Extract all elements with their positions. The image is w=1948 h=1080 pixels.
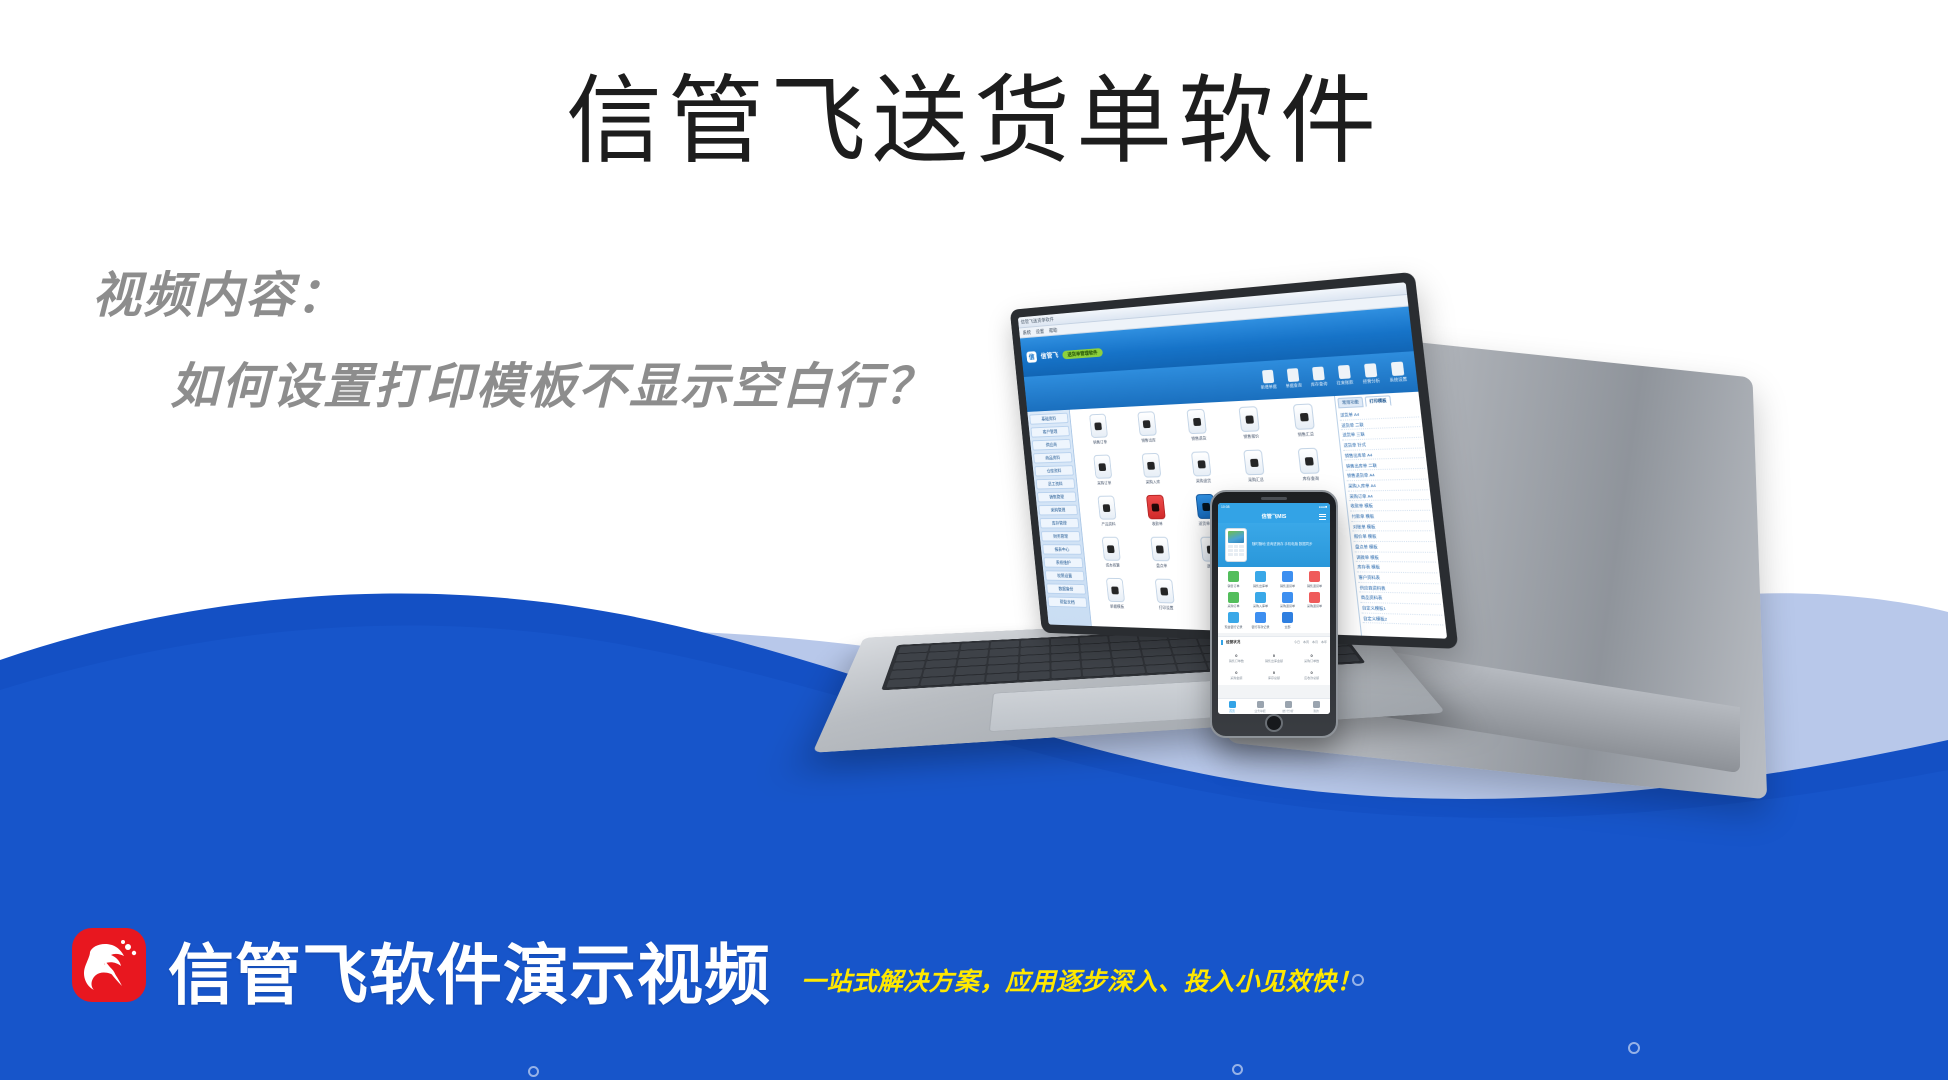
phone-function-label: 采购退货单 [1280,604,1295,608]
phone-function-grid: 销售订单销售出库单销售退货单销售退货单采购订单采购入库单采购退货单采购退货单现金… [1218,567,1330,633]
module-label: 销售报价 [1243,433,1259,440]
module-tile[interactable]: 采购订单 [1079,454,1129,493]
module-label: 产品资料 [1101,521,1116,527]
toolbar-button[interactable]: 系统设置 [1388,361,1408,383]
phone-function-icon [1282,612,1293,623]
phone-function-label: 采购退货单 [1307,604,1322,608]
template-row[interactable]: 自定义模板2 [1362,615,1444,626]
template-row[interactable]: 送货单 针式 [1342,439,1422,450]
module-tile[interactable]: 库存查询 [1281,447,1339,490]
keyboard-key [1083,667,1114,676]
video-content-label: 视频内容： [92,272,935,321]
toolbar-button-label: 单据查询 [1285,382,1302,389]
module-label: 库存查询 [1302,476,1319,483]
sidebar-item[interactable]: 库存管理 [1040,518,1080,529]
phone-section-title: 经营状况 [1221,640,1240,645]
template-row[interactable]: 销售出库单 A4 [1343,450,1424,461]
phone-section-header: 经营状况 今日本周本月本年 [1218,636,1330,648]
phone-nav-item[interactable]: 业务单据 [1246,701,1274,713]
template-panel-tabs: 常用功能打印模板 [1337,394,1417,408]
phone-nav-label: 首页 [1229,709,1235,713]
keyboard-key [1082,659,1112,668]
phone-function-icon [1309,571,1320,582]
keyboard-key [1051,669,1081,678]
sidebar-item[interactable]: 销售管理 [1037,492,1077,503]
phone-function-label: 全部 [1284,625,1290,629]
phone-function-tile[interactable]: 销售退货单 [1302,571,1327,588]
phone-stat-value: 0 [1235,670,1237,675]
phone-stat-label: 采购金额 [1230,676,1242,680]
user-icon [1313,701,1320,708]
brand-name: 信管飞软件演示视频 [168,942,771,1008]
app-brand-name: 信管飞 [1040,350,1058,361]
module-label: 采购订单 [1097,480,1112,486]
sidebar-item[interactable]: 财务管理 [1041,531,1081,541]
app-logo-icon: 信 [1026,351,1037,363]
phone-function-tile[interactable]: 采购退货单 [1275,592,1300,609]
keyboard-key [1114,666,1145,675]
template-row[interactable]: 付款单 模板 [1350,512,1431,521]
phone-stat-label: 销售订单数 [1229,659,1244,663]
analysis-icon [1364,363,1377,377]
phone-stats-grid: 0销售订单数0销售出库金额0采购订单数0采购金额0库存总额0应收款总额 [1218,648,1330,685]
module-tile[interactable]: 盘点单 [1135,537,1187,576]
phone-function-tile[interactable]: 采购入库单 [1248,592,1273,609]
module-label: 采购汇总 [1248,477,1264,483]
toolbar-button[interactable]: 新增单据 [1259,370,1277,391]
module-label: 销售订单 [1093,439,1107,445]
phone-stat-value: 0 [1311,670,1313,675]
phone-stat-label: 采购订单数 [1304,659,1319,663]
module-icon [1187,409,1207,434]
keyboard-key [886,678,920,688]
phone-function-tile[interactable]: 采购订单 [1221,592,1246,609]
toolbar-button[interactable]: 经营分析 [1361,363,1380,385]
module-icon [1146,495,1166,520]
module-label: 销售汇总 [1297,431,1314,438]
phone-nav-label: 统计分析 [1282,709,1293,713]
phone-screen: 10:08 ●●●■ 信管飞MIS 随时随地 查询进销存 手机电脑 数据同步 销… [1218,503,1330,714]
toolbar-button-label: 新增单据 [1261,384,1277,391]
account-icon [1337,365,1350,379]
module-icon [1298,448,1320,474]
module-icon [1089,414,1108,438]
phone-stat-value: 0 [1311,653,1313,658]
hamburger-icon[interactable] [1319,514,1326,520]
module-tile[interactable]: 销售退货 [1171,408,1225,449]
decor-dot-3 [528,1066,539,1077]
phone-section-tabs[interactable]: 今日本周本月本年 [1294,640,1327,644]
phone-nav-item[interactable]: 首页 [1218,701,1246,713]
template-row[interactable]: 采购订单 A4 [1348,491,1429,501]
phone-function-tile[interactable]: 销售退货单 [1275,571,1300,588]
keyboard-key [1051,661,1081,670]
stock-icon [1312,367,1325,381]
phone-nav-item[interactable]: 我的 [1302,701,1330,713]
module-icon [1239,406,1260,432]
toolbar-button[interactable]: 库存查询 [1309,366,1328,388]
phone-function-icon [1228,571,1239,582]
home-icon [1229,701,1236,708]
phone-period-tab[interactable]: 今日 [1294,640,1300,644]
keyboard-key [890,669,923,678]
template-row[interactable]: 销售退货单 A4 [1346,471,1427,481]
sidebar-item[interactable]: 系统维护 [1044,557,1084,568]
keyboard-key [955,666,986,675]
keyboard-key [986,673,1017,682]
phone-stat-cell: 0采购金额 [1218,667,1255,683]
module-tile[interactable]: 销售订单 [1075,413,1125,453]
keyboard-key [1019,663,1049,672]
video-content-text: 如何设置打印模板不显示空白行？ [170,363,935,412]
module-icon [1154,579,1174,604]
toolbar-button-label: 系统设置 [1389,376,1407,383]
template-row[interactable]: 客户资料表 [1357,574,1438,584]
template-row[interactable]: 自定义模板1 [1361,605,1443,616]
phone-status-time: 10:08 [1221,505,1230,509]
brand-tagline: 一站式解决方案，应用逐步深入、投入小见效快！ [801,962,1362,998]
module-icon [1150,537,1170,561]
module-label: 成本核算 [1106,563,1121,569]
toolbar-button[interactable]: 单据查询 [1284,368,1302,389]
keyboard-key [953,674,985,684]
keyboard-key [1176,662,1208,671]
phone-banner-illustration [1225,528,1247,562]
phone-stat-cell: 0销售出库金额 [1256,650,1293,666]
phone-function-tile[interactable]: 全部 [1275,612,1300,629]
module-icon [1102,537,1121,561]
template-panel-tab[interactable]: 打印模板 [1365,395,1392,407]
phone-period-tab[interactable]: 本月 [1312,640,1318,644]
phone-function-tile[interactable]: 销售订单 [1221,571,1246,588]
phone-period-tab[interactable]: 本周 [1303,640,1309,644]
module-tile[interactable]: 采购入库 [1126,452,1178,492]
phone-function-icon [1282,571,1293,582]
phone-device: 10:08 ●●●■ 信管飞MIS 随时随地 查询进销存 手机电脑 数据同步 销… [1210,490,1338,738]
phone-stat-label: 应收款总额 [1304,676,1319,680]
phone-function-label: 采购入库单 [1253,604,1268,608]
phone-function-label: 现金银行记录 [1224,625,1242,629]
module-icon [1243,449,1264,475]
phone-nav-label: 业务单据 [1254,709,1265,713]
module-label: 单据模板 [1110,604,1125,610]
doc-icon [1257,701,1264,708]
sidebar-item[interactable]: 客户管理 [1031,426,1070,438]
module-tile[interactable]: 采购汇总 [1227,449,1283,491]
module-tile[interactable]: 成本核算 [1087,537,1137,576]
menu-item[interactable]: 帮助 [1049,327,1058,334]
module-icon [1137,411,1157,436]
video-content-block: 视频内容： 如何设置打印模板不显示空白行？ [92,272,935,412]
template-row[interactable]: 调拨单 模板 [1355,554,1436,563]
slide-canvas: 信管飞送货单软件 视频内容： 如何设置打印模板不显示空白行？ 信管飞送货单软件 … [0,0,1948,1080]
phone-function-tile[interactable]: 银行存款记录 [1248,612,1273,629]
phone-function-icon [1255,592,1266,603]
module-tile[interactable]: 销售出库 [1122,410,1174,451]
template-row[interactable]: 报价单 模板 [1353,533,1434,542]
phone-function-label: 销售订单 [1227,584,1239,588]
sidebar-item[interactable]: 权限设置 [1045,570,1085,581]
phone-stat-value: 0 [1273,670,1275,675]
phone-status-icons: ●●●■ [1319,505,1327,509]
module-icon [1097,496,1116,520]
phone-home-button[interactable] [1265,714,1283,732]
module-tile[interactable]: 销售报价 [1223,405,1279,447]
template-row[interactable]: 供应商资料表 [1358,584,1439,594]
phone-nav-item[interactable]: 统计分析 [1274,701,1302,713]
sidebar-item[interactable]: 供应商 [1032,439,1071,451]
module-icon [1141,453,1161,478]
phone-status-bar: 10:08 ●●●■ [1218,503,1330,510]
phone-function-icon [1255,612,1266,623]
device-mockup-group: 信管飞送货单软件 系统设置帮助 信 信管飞 送货单管理软件 新增单据单据查询库存… [880,370,1948,930]
phone-speaker [1261,497,1287,500]
template-row[interactable]: 商品资料表 [1359,594,1441,605]
template-row[interactable]: 收款单 模板 [1349,502,1430,512]
window-title: 信管飞送货单软件 [1020,316,1054,325]
decor-dot-4 [1232,1064,1243,1075]
sidebar-item[interactable]: 数据备份 [1046,583,1086,594]
phone-nav-label: 我的 [1313,709,1319,713]
module-label: 采购退货 [1196,478,1212,484]
module-label: 盘点单 [1156,563,1168,569]
phone-function-label: 销售退货单 [1307,584,1322,588]
new-doc-icon [1261,370,1273,384]
phone-function-icon [1282,592,1293,603]
phone-function-label: 销售退货单 [1280,584,1295,588]
phone-function-icon [1228,592,1239,603]
phone-function-label: 采购订单 [1227,604,1239,608]
sidebar-item[interactable]: 采购管理 [1038,505,1078,516]
phone-function-icon [1255,571,1266,582]
phone-banner: 随时随地 查询进销存 手机电脑 数据同步 [1218,523,1330,567]
phone-function-icon [1309,592,1320,603]
keyboard-key [1145,664,1176,673]
module-label: 销售退货 [1191,435,1207,441]
template-row[interactable]: 库存表 模板 [1356,564,1437,574]
sidebar-item[interactable]: 报表中心 [1042,544,1082,555]
sidebar-item[interactable]: 帮助文档 [1047,596,1087,607]
brand-bar: 信管飞软件演示视频 一站式解决方案，应用逐步深入、投入小见效快！ [72,928,1362,1008]
phone-banner-text: 随时随地 查询进销存 手机电脑 数据同步 [1252,542,1312,547]
template-row[interactable]: 对账单 模板 [1351,523,1432,532]
module-tile[interactable]: 打印设置 [1139,578,1191,618]
phone-stat-cell: 0销售订单数 [1218,650,1255,666]
phone-function-icon [1228,612,1239,623]
module-icon [1191,451,1211,476]
module-label: 采购入库 [1145,479,1160,485]
sidebar-item[interactable]: 商品资料 [1033,452,1072,463]
phone-stat-value: 0 [1273,653,1275,658]
laptop-front: 信管飞送货单软件 系统设置帮助 信 信管飞 送货单管理软件 新增单据单据查询库存… [880,310,1520,910]
phone-stat-cell: 0采购订单数 [1293,650,1330,666]
module-label: 收款单 [1152,521,1164,527]
module-label: 销售出库 [1141,437,1156,443]
decor-dot-2 [1628,1042,1640,1054]
phone-stat-label: 销售出库金额 [1265,659,1283,663]
keyboard-key [987,664,1017,673]
toolbar-button-label: 经营分析 [1363,378,1381,385]
bird-logo-icon [72,928,146,1002]
search-doc-icon [1286,368,1299,382]
keyboard-key [1174,654,1205,663]
phone-period-tab[interactable]: 本年 [1321,640,1327,644]
module-icon [1293,403,1315,429]
page-title: 信管飞送货单软件 [0,72,1948,173]
chart-icon [1285,701,1292,708]
app-module-badge: 送货单管理软件 [1062,348,1103,359]
module-tile[interactable]: 单据模板 [1091,578,1141,618]
phone-function-label: 银行存款记录 [1251,625,1269,629]
module-icon [1093,455,1112,479]
phone-function-tile[interactable]: 销售出库单 [1248,571,1273,588]
keyboard-key [1113,658,1143,667]
sidebar-item[interactable]: 基础资料 [1029,413,1068,425]
menu-item[interactable]: 设置 [1035,328,1044,335]
phone-app-title: 信管飞MIS [1262,513,1287,520]
phone-function-label: 销售出库单 [1253,584,1268,588]
phone-function-tile[interactable]: 采购退货单 [1302,592,1327,609]
settings-icon [1390,362,1404,376]
keyboard-key [922,668,954,677]
module-label: 打印设置 [1159,605,1174,611]
template-row[interactable]: 采购入库单 A4 [1347,481,1428,491]
module-icon [1106,578,1125,602]
menu-item[interactable]: 系统 [1022,329,1031,336]
module-tile[interactable]: 采购退货 [1176,451,1230,492]
template-panel-tab[interactable]: 常用功能 [1337,397,1363,409]
keyboard-key [1143,656,1174,665]
sidebar-item[interactable]: 员工资料 [1036,478,1076,489]
phone-app-header: 信管飞MIS [1218,510,1330,523]
toolbar-button-label: 库存查询 [1311,381,1328,388]
phone-stat-cell: 0库存总额 [1256,667,1293,683]
phone-stat-value: 0 [1235,653,1237,658]
keyboard-key [1019,671,1049,680]
module-tile[interactable]: 销售汇总 [1276,403,1334,446]
toolbar-button[interactable]: 往来账款 [1335,365,1354,387]
toolbar-button-label: 往来账款 [1336,379,1353,386]
sidebar-item[interactable]: 仓库资料 [1034,465,1073,476]
phone-stat-label: 库存总额 [1268,676,1280,680]
module-tile[interactable]: 产品资料 [1083,495,1133,534]
phone-bottom-nav[interactable]: 首页业务单据统计分析我的 [1218,698,1330,714]
phone-stat-cell: 0应收款总额 [1293,667,1330,683]
template-row[interactable]: 销售出库单 二联 [1345,460,1426,471]
module-tile[interactable]: 收款单 [1131,495,1183,534]
phone-function-tile[interactable]: 现金银行记录 [1221,612,1246,629]
keyboard-key [920,676,953,686]
template-row[interactable]: 盘点单 模板 [1354,543,1435,552]
